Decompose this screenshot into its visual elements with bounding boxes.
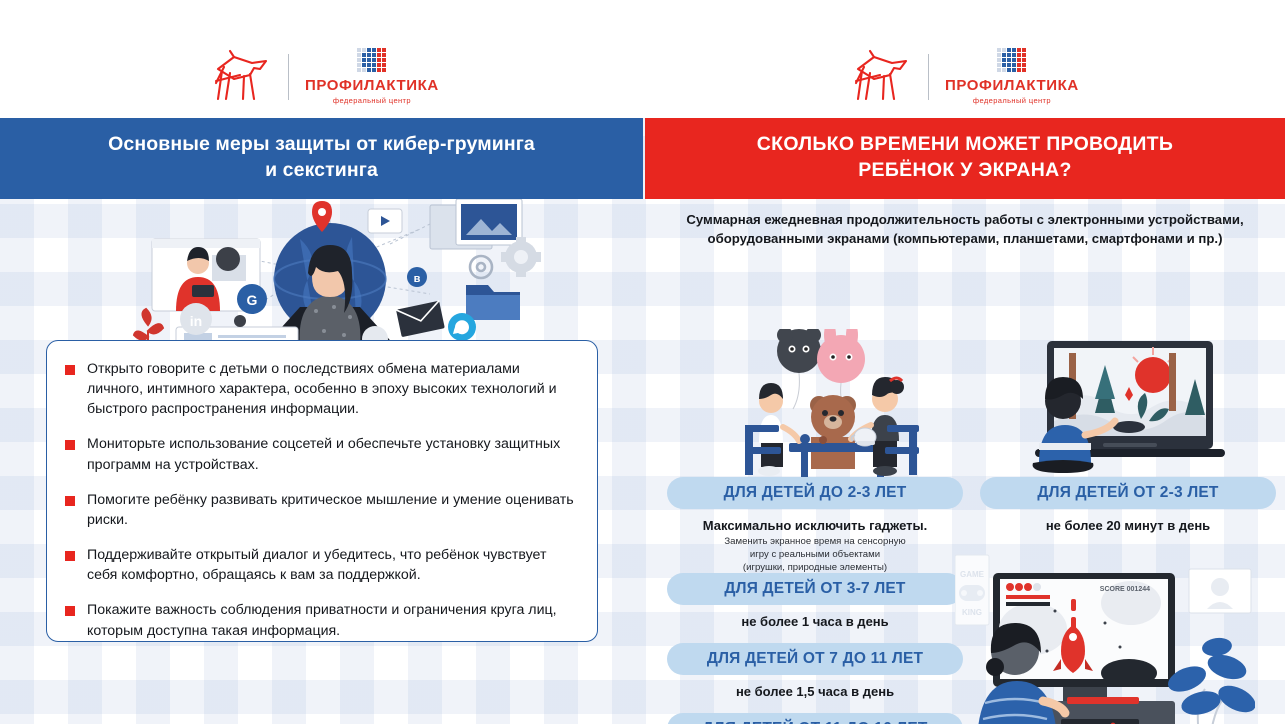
bullet-square-icon <box>65 440 75 450</box>
age-limit-0: Максимально исключить гаджеты. <box>667 518 963 533</box>
brand-subtitle: федеральный центр <box>333 96 411 105</box>
bullet-square-icon <box>65 606 75 616</box>
age-group-stack: ДЛЯ ДЕТЕЙ ОТ 3-7 ЛЕТ не более 1 часа в д… <box>667 573 963 724</box>
game-poster-line1: GAME <box>960 570 985 579</box>
logo-divider <box>288 54 289 100</box>
age-group-2: ДЛЯ ДЕТЕЙ ОТ 3-7 ЛЕТ не более 1 часа в д… <box>667 573 963 629</box>
right-panel-header: СКОЛЬКО ВРЕМЕНИ МОЖЕТ ПРОВОДИТЬ РЕБЁНОК … <box>645 118 1285 199</box>
right-header-line2: РЕБЁНОК У ЭКРАНА? <box>665 158 1265 184</box>
list-item: Помогите ребёнку развивать критическое м… <box>65 490 577 530</box>
left-panel: Основные меры защиты от кибер-груминга и… <box>0 118 643 724</box>
age-group-column-right: ДЛЯ ДЕТЕЙ ОТ 2-3 ЛЕТ не более 20 минут в… <box>980 477 1276 533</box>
age-sub-0-line2: игру с реальными объектами <box>667 549 963 562</box>
intro-line1: Суммарная ежедневная продолжительность р… <box>661 211 1269 229</box>
svg-text:в: в <box>414 273 421 285</box>
children-tea-party-teddy-bear-illustration <box>737 329 947 479</box>
age-bar-3: ДЛЯ ДЕТЕЙ ОТ 7 ДО 11 ЛЕТ <box>667 643 963 675</box>
age-group-3: ДЛЯ ДЕТЕЙ ОТ 7 ДО 11 ЛЕТ не более 1,5 ча… <box>667 643 963 699</box>
age-bar-0: ДЛЯ ДЕТЕЙ ДО 2-3 ЛЕТ <box>667 477 963 509</box>
list-item: Покажите важность соблюдения приватности… <box>65 600 577 640</box>
bullet-list: Открыто говорите с детьми о последствиях… <box>65 359 577 641</box>
game-score: SCORE 001244 <box>1100 586 1150 593</box>
grid-squares-icon <box>357 48 386 72</box>
age-sub-0: Заменить экранное время на сенсорную игр… <box>667 536 963 575</box>
bullet-square-icon <box>65 365 75 375</box>
age-bar-4: ДЛЯ ДЕТЕЙ ОТ 11 ДО 16 ЛЕТ <box>667 713 963 724</box>
list-item: Мониторьте использование соцсетей и обес… <box>65 434 577 474</box>
right-header-line1: СКОЛЬКО ВРЕМЕНИ МОЖЕТ ПРОВОДИТЬ <box>665 132 1265 158</box>
left-header-line1: Основные меры защиты от кибер-груминга <box>20 132 623 158</box>
horse-outline-icon <box>210 49 272 105</box>
bullet-square-icon <box>65 551 75 561</box>
left-panel-header: Основные меры защиты от кибер-груминга и… <box>0 118 643 199</box>
intro-line2: оборудованными экранами (компьютерами, п… <box>661 230 1269 248</box>
left-header-line2: и секстинга <box>20 158 623 184</box>
bullet-text: Мониторьте использование соцсетей и обес… <box>87 434 577 474</box>
right-panel-content: Суммарная ежедневная продолжительность р… <box>645 211 1285 247</box>
age-bar-1: ДЛЯ ДЕТЕЙ ОТ 2-3 ЛЕТ <box>980 477 1276 509</box>
protection-measures-card: Открыто говорите с детьми о последствиях… <box>46 340 598 642</box>
logo-text-right: ПРОФИЛАКТИКА федеральный центр <box>945 48 1079 105</box>
bullet-text: Помогите ребёнку развивать критическое м… <box>87 490 577 530</box>
bullet-text: Покажите важность соблюдения приватности… <box>87 600 577 640</box>
child-playing-video-game-illustration: GAME KING <box>955 551 1255 724</box>
infographic-page: ПРОФИЛАКТИКА федеральный центр <box>0 0 1285 724</box>
top-white-band <box>0 0 1285 118</box>
svg-text:G: G <box>247 292 258 308</box>
age-bar-2: ДЛЯ ДЕТЕЙ ОТ 3-7 ЛЕТ <box>667 573 963 605</box>
brand-name: ПРОФИЛАКТИКА <box>305 77 439 94</box>
age-group-4: ДЛЯ ДЕТЕЙ ОТ 11 ДО 16 ЛЕТ не более 2 час… <box>667 713 963 724</box>
horse-outline-icon <box>850 49 912 105</box>
list-item: Поддерживайте открытый диалог и убедитес… <box>65 545 577 585</box>
age-group-column-left: ДЛЯ ДЕТЕЙ ДО 2-3 ЛЕТ Максимально исключи… <box>667 477 963 575</box>
age-limit-1: не более 20 минут в день <box>980 518 1276 533</box>
logo-divider <box>928 54 929 100</box>
logo-text-left: ПРОФИЛАКТИКА федеральный центр <box>305 48 439 105</box>
logo-right: ПРОФИЛАКТИКА федеральный центр <box>850 48 1079 105</box>
age-limit-2: не более 1 часа в день <box>667 614 963 629</box>
intro-text: Суммарная ежедневная продолжительность р… <box>661 211 1269 247</box>
age-sub-0-line1: Заменить экранное время на сенсорную <box>667 536 963 549</box>
grid-squares-icon <box>997 48 1026 72</box>
bullet-text: Поддерживайте открытый диалог и убедитес… <box>87 545 577 585</box>
brand-name: ПРОФИЛАКТИКА <box>945 77 1079 94</box>
logo-left: ПРОФИЛАКТИКА федеральный центр <box>210 48 439 105</box>
woman-laptop-social-network-illustration: G в in <box>0 199 643 357</box>
svg-text:in: in <box>190 313 202 329</box>
list-item: Открыто говорите с детьми о последствиях… <box>65 359 577 419</box>
bullet-text: Открыто говорите с детьми о последствиях… <box>87 359 577 419</box>
brand-subtitle: федеральный центр <box>973 96 1051 105</box>
child-watching-laptop-illustration <box>1017 339 1227 479</box>
game-poster-line2: KING <box>962 608 982 617</box>
right-panel: СКОЛЬКО ВРЕМЕНИ МОЖЕТ ПРОВОДИТЬ РЕБЁНОК … <box>645 118 1285 724</box>
bullet-square-icon <box>65 496 75 506</box>
age-limit-3: не более 1,5 часа в день <box>667 684 963 699</box>
